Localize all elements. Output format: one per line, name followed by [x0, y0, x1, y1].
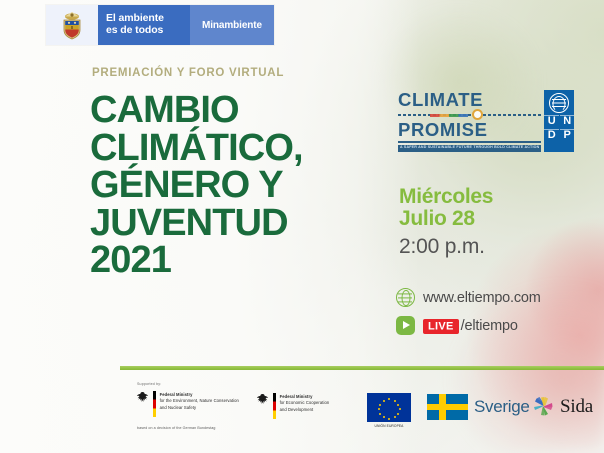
sverige-word: Sverige: [474, 397, 530, 417]
title-line-4: JUVENTUD: [90, 205, 410, 243]
bundestag-note: based on a decision of the German Bundes…: [137, 426, 215, 430]
bmu-line-3: and Nuclear Safety: [160, 405, 197, 410]
event-kicker: PREMIACIÓN Y FORO VIRTUAL: [92, 67, 284, 79]
event-datetime: Miércoles Julio 28 2:00 p.m.: [399, 186, 493, 259]
play-video-icon: [396, 316, 415, 335]
german-eagle-icon: [256, 393, 269, 406]
color-ticks-icon: [430, 114, 468, 117]
gov-slogan: El ambiente es de todos: [98, 5, 190, 45]
climate-promise-logo: CLIMATE PROMISE A SAFER AND SUSTAINABLE …: [398, 90, 543, 152]
title-line-3: GÉNERO Y: [90, 167, 410, 205]
eu-caption: UNIÓN EUROPEA: [367, 424, 411, 428]
eu-flag-icon: [367, 393, 411, 422]
page-title: CAMBIO CLIMÁTICO, GÉNERO Y JUVENTUD 2021: [90, 92, 410, 280]
live-channel-row[interactable]: LIVE/eltiempo: [396, 316, 541, 335]
event-time: 2:00 p.m.: [399, 235, 493, 259]
promotional-poster: El ambiente es de todos Minambiente PREM…: [0, 0, 604, 453]
sida-logo: Sida: [531, 394, 593, 419]
gov-slogan-text: El ambiente es de todos: [106, 13, 164, 37]
ministry-brand: Minambiente: [190, 5, 274, 45]
bmu-ministry-logo: Federal Ministry for the Environment, Na…: [136, 391, 239, 417]
title-line-2: CLIMÁTICO,: [90, 130, 410, 168]
underline-rule: [398, 141, 541, 143]
bmz-text: Federal Ministry for Economic Cooperatio…: [280, 393, 330, 413]
globe-icon: [396, 288, 415, 307]
dashed-line-icon: [398, 114, 541, 116]
un-emblem-icon: [549, 93, 569, 113]
website-url[interactable]: www.eltiempo.com: [423, 290, 541, 306]
bmz-line-3: and Development: [280, 407, 314, 412]
bmz-ministry-logo: Federal Ministry for Economic Cooperatio…: [256, 393, 329, 419]
german-flag-bar: [153, 391, 156, 417]
event-day: Miércoles: [399, 186, 493, 208]
bmu-line-2: for the Environment, Nature Conservation: [160, 398, 239, 403]
undp-letters: U N D P: [544, 115, 574, 141]
title-line-1: CAMBIO: [90, 92, 410, 130]
website-row[interactable]: www.eltiempo.com: [396, 288, 541, 307]
contact-block: www.eltiempo.com LIVE/eltiempo: [396, 288, 541, 335]
bmu-text: Federal Ministry for the Environment, Na…: [160, 391, 239, 411]
channel-handle: /eltiempo: [461, 318, 518, 334]
footer-logos: Supported by: Federal Ministry for the E…: [0, 380, 604, 453]
undp-letter-u: U: [544, 115, 559, 128]
german-flag-bar: [273, 393, 276, 419]
german-eagle-icon: [136, 391, 149, 404]
sida-word: Sida: [560, 396, 593, 418]
crest-cell: [46, 5, 98, 45]
undp-letter-n: N: [560, 115, 575, 128]
sida-pinwheel-icon: [531, 394, 556, 419]
climate-promise-tagline: A SAFER AND SUSTAINABLE FUTURE THROUGH B…: [398, 145, 541, 152]
event-date: Julio 28: [399, 208, 493, 230]
sweden-flag-icon: [427, 394, 468, 420]
climate-promise-rule: [398, 110, 541, 119]
colombia-coat-of-arms-icon: [59, 10, 85, 40]
sverige-logo: Sverige: [427, 394, 530, 420]
live-badge: LIVE: [423, 319, 459, 334]
undp-letter-p: P: [560, 129, 575, 142]
climate-promise-wordmark: CLIMATE PROMISE A SAFER AND SUSTAINABLE …: [398, 90, 541, 152]
government-header-bar: El ambiente es de todos Minambiente: [46, 5, 274, 45]
channel-text[interactable]: LIVE/eltiempo: [423, 318, 518, 334]
promise-word: PROMISE: [398, 120, 541, 139]
supported-by-label: Supported by:: [137, 382, 161, 386]
section-divider: [120, 366, 604, 370]
climate-word: CLIMATE: [398, 90, 541, 109]
climate-promise-row: CLIMATE PROMISE A SAFER AND SUSTAINABLE …: [398, 90, 543, 152]
bmz-line-2: for Economic Cooperation: [280, 400, 330, 405]
ministry-name: Minambiente: [202, 20, 262, 31]
undp-letter-d: D: [544, 129, 559, 142]
european-union-logo: UNIÓN EUROPEA: [367, 393, 411, 428]
title-line-5: 2021: [90, 242, 410, 280]
undp-logo: U N D P: [544, 90, 574, 152]
circle-accent-icon: [472, 109, 483, 120]
